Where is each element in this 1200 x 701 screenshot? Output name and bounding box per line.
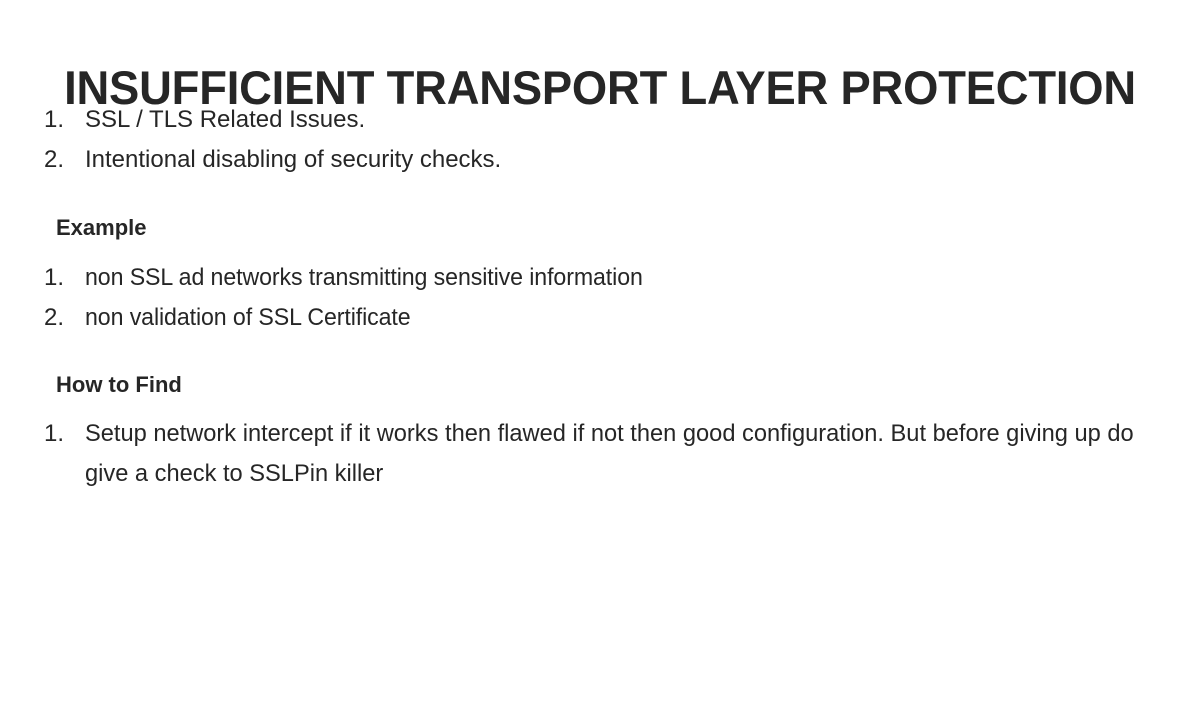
slide-canvas: INSUFFICIENT TRANSPORT LAYER PROTECTION … — [0, 0, 1200, 701]
issues-list: 1. SSL / TLS Related Issues. 2. Intentio… — [44, 100, 501, 180]
list-item: 1. non SSL ad networks transmitting sens… — [44, 258, 663, 298]
list-item: 2. Intentional disabling of security che… — [44, 140, 501, 180]
list-item-label: Setup network intercept if it works then… — [85, 414, 1138, 494]
how-to-find-list-block: 1. Setup network intercept if it works t… — [44, 414, 1154, 494]
list-item: 1. Setup network intercept if it works t… — [44, 414, 1154, 494]
list-item-number: 1. — [44, 258, 74, 298]
list-item-number: 1. — [44, 414, 74, 454]
examples-list: 1. non SSL ad networks transmitting sens… — [44, 258, 663, 338]
list-item-label: non SSL ad networks transmitting sensiti… — [85, 258, 643, 298]
how-to-find-list: 1. Setup network intercept if it works t… — [44, 414, 1154, 494]
issues-list-block: 1. SSL / TLS Related Issues. 2. Intentio… — [44, 100, 501, 180]
list-item-number: 2. — [44, 140, 74, 180]
list-item-label: non validation of SSL Certificate — [85, 298, 411, 338]
section-heading-how-to-find: How to Find — [56, 370, 182, 400]
list-item-label: SSL / TLS Related Issues. — [85, 100, 365, 140]
list-item: 2. non validation of SSL Certificate — [44, 298, 663, 338]
list-item-label: Intentional disabling of security checks… — [85, 140, 501, 180]
list-item-number: 2. — [44, 298, 74, 338]
examples-list-block: 1. non SSL ad networks transmitting sens… — [44, 258, 663, 338]
list-item-number: 1. — [44, 100, 74, 140]
section-heading-example: Example — [56, 213, 147, 243]
list-item: 1. SSL / TLS Related Issues. — [44, 100, 501, 140]
